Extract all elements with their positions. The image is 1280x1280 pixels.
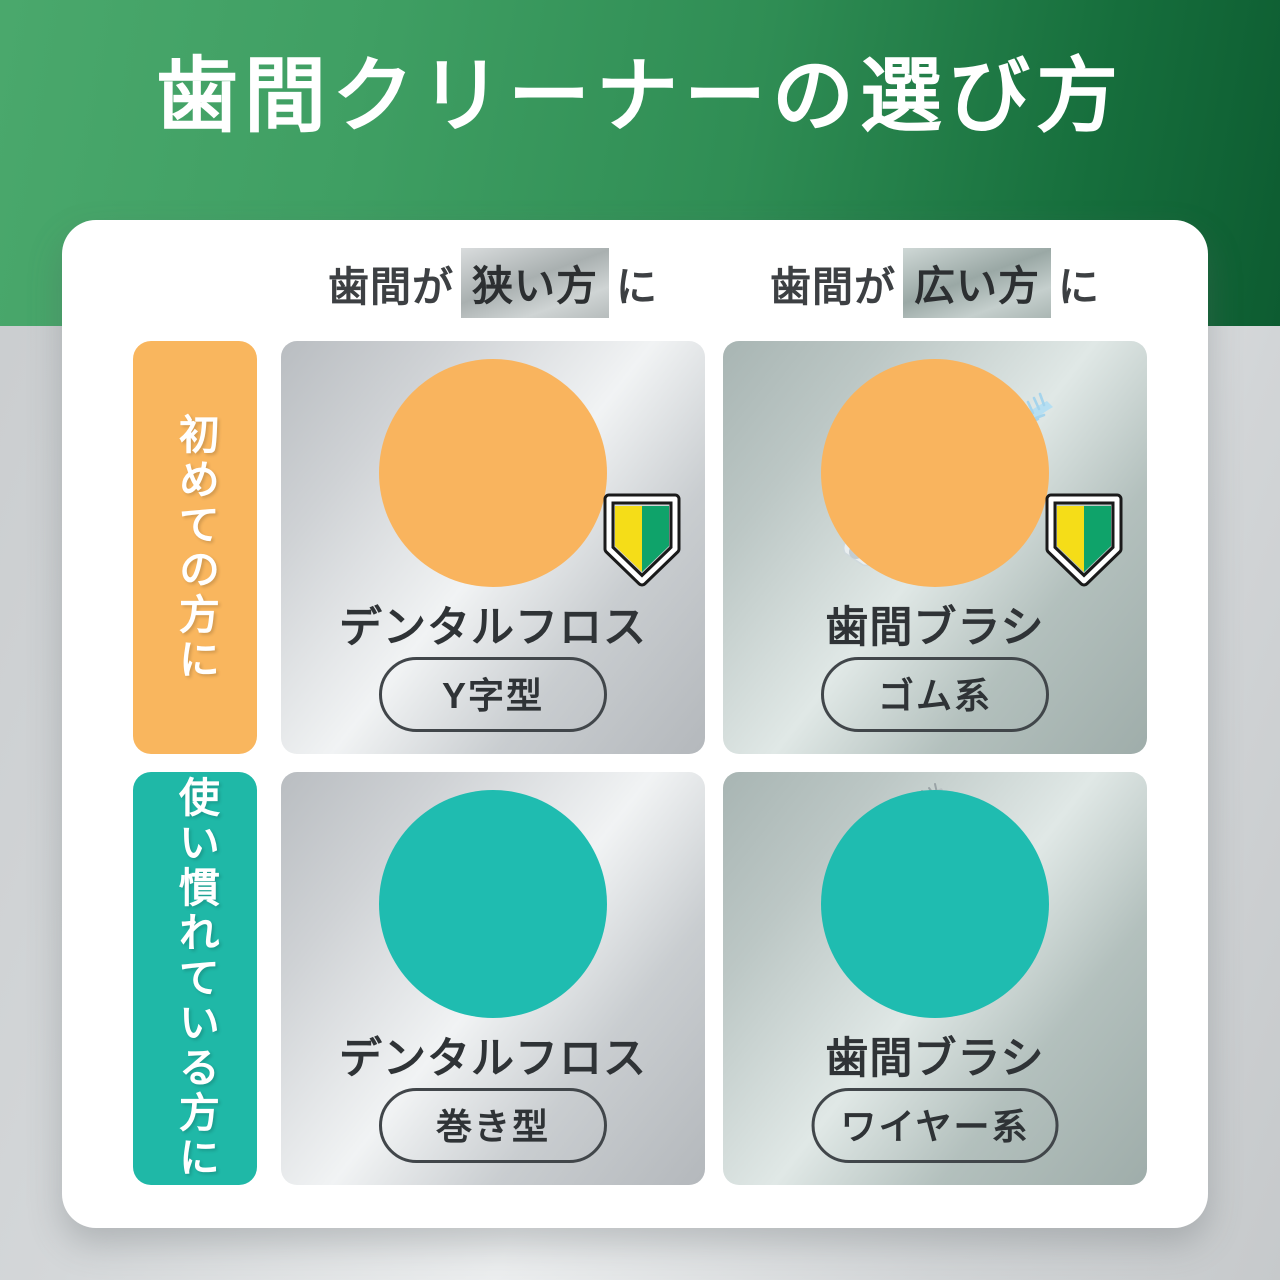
product-circle-backdrop	[821, 790, 1049, 1018]
cell-beginner-wide-badge: ゴム系	[821, 657, 1049, 732]
row-label-experienced-text: 使い慣れている方に	[174, 776, 217, 1181]
cell-beginner-narrow[interactable]: G·U·M デンタルフロス Y字型	[281, 341, 705, 754]
shoshinsha-beginner-mark-icon	[601, 493, 683, 585]
shoshinsha-beginner-mark-icon	[1043, 493, 1125, 585]
cell-experienced-wide[interactable]: 歯間ブラシ ワイヤー系	[723, 772, 1147, 1185]
row-label-experienced: 使い慣れている方に	[133, 772, 257, 1185]
column-header-narrow-highlight: 狭い方	[461, 248, 609, 318]
cell-beginner-wide[interactable]: G·U·M 歯間ブラシ ゴム系	[723, 341, 1147, 754]
cell-experienced-narrow-badge: 巻き型	[379, 1088, 607, 1163]
column-header-narrow-prefix: 歯間が	[321, 253, 461, 313]
column-header-wide-prefix: 歯間が	[763, 253, 903, 313]
column-header-wide: 歯間が 広い方 に	[723, 252, 1147, 314]
column-header-wide-highlight: 広い方	[903, 248, 1051, 318]
cell-experienced-wide-title: 歯間ブラシ	[723, 1024, 1147, 1086]
column-header-wide-suffix: に	[1051, 253, 1107, 313]
row-label-beginner: 初めての方に	[133, 341, 257, 754]
cell-beginner-narrow-art: G·U·M	[281, 349, 705, 589]
cell-experienced-narrow-title: デンタルフロス	[281, 1024, 705, 1086]
cell-experienced-narrow[interactable]: G·U·M WAX デンタルフロス 巻き型	[281, 772, 705, 1185]
cell-beginner-wide-title: 歯間ブラシ	[723, 593, 1147, 655]
page-title: 歯間クリーナーの選び方	[0, 56, 1280, 138]
column-header-narrow-suffix: に	[609, 253, 665, 313]
cell-beginner-narrow-badge: Y字型	[379, 657, 607, 732]
product-circle-backdrop	[379, 790, 607, 1018]
cell-experienced-narrow-art: G·U·M WAX	[281, 780, 705, 1020]
cell-experienced-wide-art	[723, 780, 1147, 1020]
cell-beginner-wide-art: G·U·M	[723, 349, 1147, 589]
infographic-canvas: 歯間クリーナーの選び方 歯間が 狭い方 に 歯間が 広い方 に 初めての方に 使…	[0, 0, 1280, 1280]
product-circle-backdrop	[821, 359, 1049, 587]
product-circle-backdrop	[379, 359, 607, 587]
column-header-narrow: 歯間が 狭い方 に	[281, 252, 705, 314]
row-label-beginner-text: 初めての方に	[174, 413, 217, 683]
cell-experienced-wide-badge: ワイヤー系	[812, 1088, 1059, 1163]
cell-beginner-narrow-title: デンタルフロス	[281, 593, 705, 655]
